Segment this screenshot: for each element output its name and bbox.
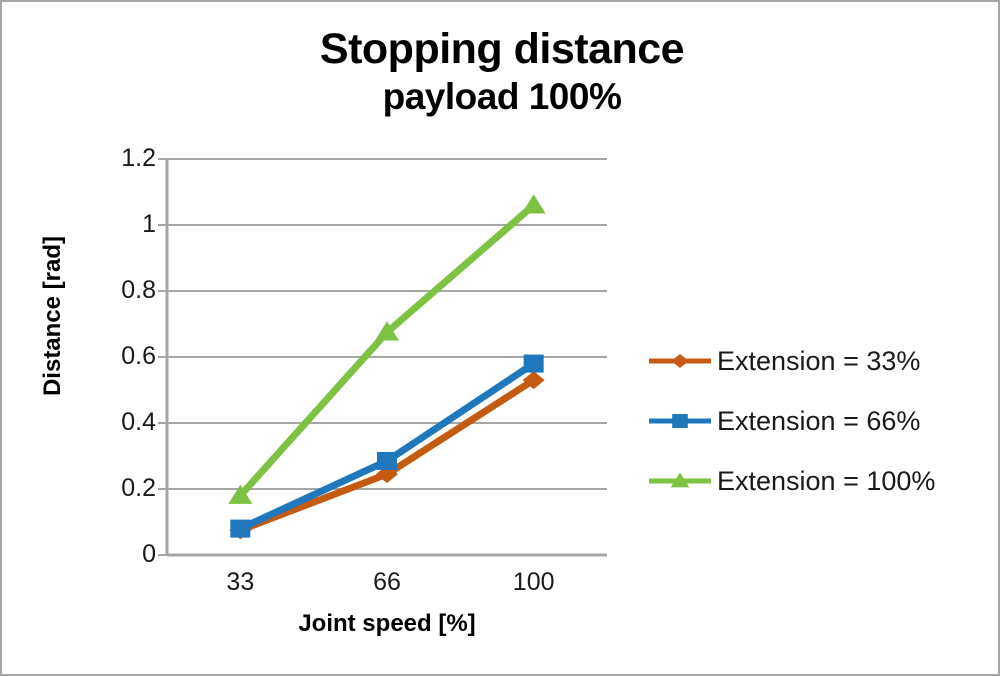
x-axis-title: Joint speed [%] [167,610,607,638]
series-markers [228,194,545,539]
legend-label: Extension = 66% [717,406,920,437]
legend-item[interactable]: Extension = 33% [647,338,987,384]
legend-marker-triangle-icon [647,466,713,496]
x-axis-tick-label: 100 [479,568,589,597]
chart-container: Stopping distance payload 100% Distance … [0,0,1000,676]
chart-subtitle: payload 100% [2,74,1000,120]
y-axis-tick-label: 0.4 [86,408,156,437]
triangle-marker [522,194,546,213]
y-axis-tick-label: 0 [86,540,156,569]
square-marker [524,355,544,373]
legend-marker-diamond-icon [647,346,713,376]
y-axis-tick-label: 0.2 [86,474,156,503]
legend-item[interactable]: Extension = 100% [647,458,987,504]
y-axis-tick-label: 0.6 [86,342,156,371]
x-axis-tick-label: 33 [185,568,295,597]
chart-title: Stopping distance [2,24,1000,74]
y-axis-title: Distance [rad] [39,226,67,406]
plot-svg [167,159,607,555]
square-marker [377,452,397,470]
square-marker [672,414,688,428]
x-axis-tick-labels: 3366100 [167,568,607,602]
y-axis-tick-label: 0.8 [86,276,156,305]
legend-label: Extension = 100% [717,466,935,497]
x-axis-tick-label: 66 [332,568,442,597]
y-axis-tick-label: 1 [86,210,156,239]
diamond-marker [671,354,688,368]
plot-area [167,159,607,555]
legend-label: Extension = 33% [717,346,920,377]
chart-legend: Extension = 33%Extension = 66%Extension … [647,338,987,518]
y-axis-tick-labels: 00.20.40.60.811.2 [84,159,156,555]
legend-item[interactable]: Extension = 66% [647,398,987,444]
chart-title-block: Stopping distance payload 100% [2,24,1000,120]
square-marker [230,520,250,538]
y-axis-tick-label: 1.2 [86,144,156,173]
legend-marker-square-icon [647,406,713,436]
